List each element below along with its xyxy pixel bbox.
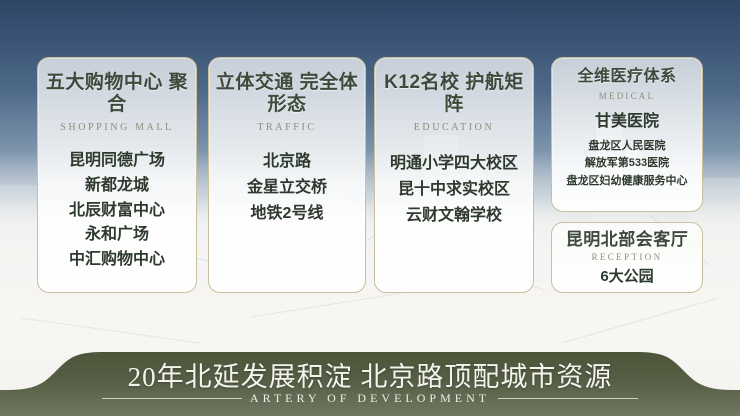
list-item: 新都龙城 <box>38 174 196 199</box>
list-item: 金星立交桥 <box>209 175 365 201</box>
list-item: 明通小学四大校区 <box>375 151 533 177</box>
card-traffic[interactable]: 立体交通 完全体形态 TRAFFIC 北京路 金星立交桥 地铁2号线 <box>208 57 366 293</box>
list-item: 盘龙区人民医院 <box>552 138 702 156</box>
list-item: 昆明同德广场 <box>38 149 196 174</box>
list-item: 6大公园 <box>552 266 702 289</box>
card-title: 五大购物中心 聚合 <box>38 72 196 116</box>
card-title: 全维医疗体系 <box>552 68 702 87</box>
card-education[interactable]: K12名校 护航矩阵 EDUCATION 明通小学四大校区 昆十中求实校区 云财… <box>374 57 534 293</box>
card-shopping-mall[interactable]: 五大购物中心 聚合 SHOPPING MALL 昆明同德广场 新都龙城 北辰财富… <box>37 57 197 293</box>
card-reception[interactable]: 昆明北部会客厅 RECEPTION 6大公园 <box>551 222 703 293</box>
list-item-lead: 甘美医院 <box>552 110 702 134</box>
card-item-list: 6大公园 <box>552 266 702 289</box>
card-medical[interactable]: 全维医疗体系 MEDICAL 甘美医院 盘龙区人民医院 解放军第533医院 盘龙… <box>551 57 703 212</box>
card-item-list: 昆明同德广场 新都龙城 北辰财富中心 永和广场 中汇购物中心 <box>38 149 196 273</box>
card-title-line1: K12名校 <box>384 72 459 93</box>
poster-canvas: 五大购物中心 聚合 SHOPPING MALL 昆明同德广场 新都龙城 北辰财富… <box>0 0 740 416</box>
list-item: 解放军第533医院 <box>552 155 702 173</box>
card-title-line1: 全维医疗体系 <box>577 68 676 85</box>
card-item-list: 明通小学四大校区 昆十中求实校区 云财文翰学校 <box>375 151 533 229</box>
list-item: 北辰财富中心 <box>38 199 196 224</box>
list-item: 永和广场 <box>38 223 196 248</box>
divider-right <box>498 398 638 399</box>
banner-subtitle-row: ARTERY OF DEVELOPMENT <box>0 391 740 406</box>
list-item: 盘龙区妇幼健康服务中心 <box>552 173 702 191</box>
card-title: 昆明北部会客厅 <box>552 230 702 250</box>
divider-left <box>102 398 242 399</box>
card-title-line1: 五大购物中心 <box>46 72 163 93</box>
list-item: 昆十中求实校区 <box>375 177 533 203</box>
list-item: 地铁2号线 <box>209 201 365 227</box>
card-subtitle: TRAFFIC <box>209 122 365 133</box>
card-title-line1: 立体交通 <box>216 72 294 93</box>
card-title: K12名校 护航矩阵 <box>375 72 533 116</box>
bottom-banner: 20年北延发展积淀 北京路顶配城市资源 ARTERY OF DEVELOPMEN… <box>0 346 740 416</box>
list-item: 中汇购物中心 <box>38 248 196 273</box>
card-item-list: 甘美医院 盘龙区人民医院 解放军第533医院 盘龙区妇幼健康服务中心 <box>552 110 702 191</box>
banner-subtitle: ARTERY OF DEVELOPMENT <box>250 391 490 406</box>
card-item-list: 北京路 金星立交桥 地铁2号线 <box>209 149 365 227</box>
list-item: 北京路 <box>209 149 365 175</box>
card-subtitle: RECEPTION <box>552 252 702 262</box>
card-subtitle: MEDICAL <box>552 91 702 101</box>
card-subtitle: SHOPPING MALL <box>38 122 196 133</box>
list-item: 云财文翰学校 <box>375 203 533 229</box>
card-title-line1: 昆明北部会客厅 <box>566 230 689 249</box>
banner-title: 20年北延发展积淀 北京路顶配城市资源 <box>0 355 740 394</box>
card-title: 立体交通 完全体形态 <box>209 72 365 116</box>
card-subtitle: EDUCATION <box>375 122 533 133</box>
